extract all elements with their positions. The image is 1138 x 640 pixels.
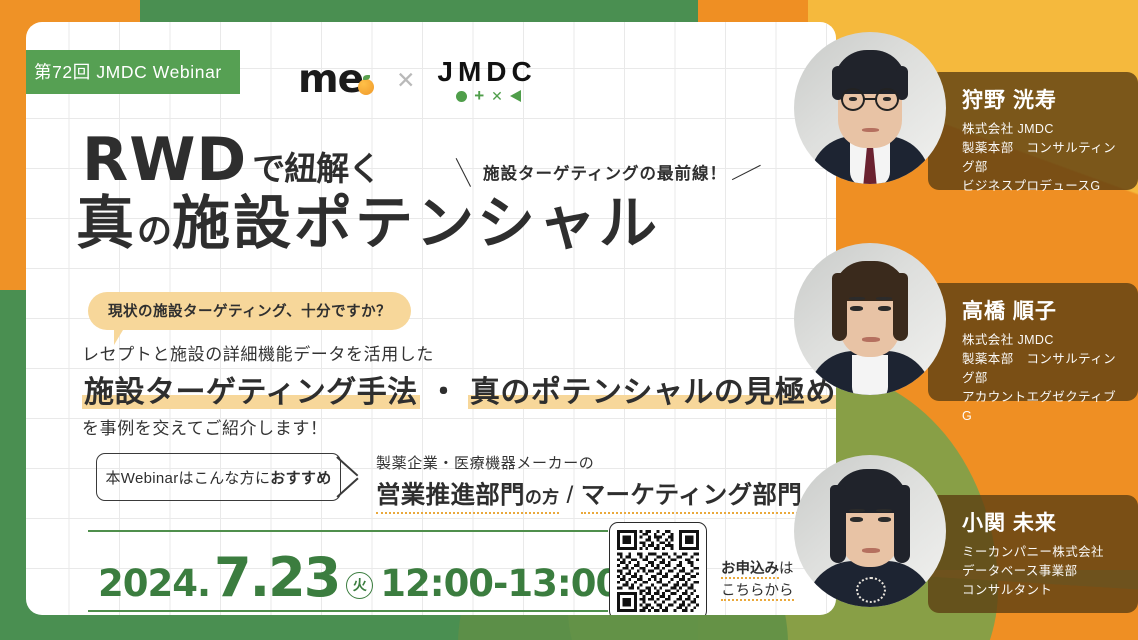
recommendation-separator: / [567, 482, 574, 509]
recommendation-box-text: 本Webinarはこんな方におすすめ [106, 467, 332, 488]
headline-rwd: RWD [82, 130, 247, 190]
speaker-1-name: 狩野 洸寿 [962, 84, 1124, 114]
headline-line-2: 真の施設ポテンシャル [76, 194, 660, 255]
slash-left-icon: ＼ [446, 151, 481, 193]
qr-label-line2-text: こちらから [721, 583, 794, 601]
speaker-3-group: コンサルタント [962, 581, 1124, 600]
eyebrow-tagline: ＼ 施設ターゲティングの最前線！ ／ [451, 154, 759, 190]
me-company-logo: me [298, 64, 374, 95]
speaker-3-org: ミーカンパニー株式会社 [962, 543, 1124, 562]
multiply-icon: ✕ [396, 67, 415, 94]
slash-right-icon: ／ [729, 151, 764, 193]
speaker-1-dept: 製薬本部 コンサルティング部 [962, 139, 1124, 177]
headline-line-1: RWD で紐解く [82, 130, 380, 190]
divider-top [88, 530, 608, 532]
lead-line-2: 施設ターゲティング手法 ・ 真のポテンシャルの見極め方 [82, 367, 836, 411]
speaker-3-photo [794, 455, 946, 607]
recommendation-target-b-text: マーケティング部門 [581, 482, 802, 509]
main-content-card: 第72回 JMDC Webinar me ✕ JMDC + ✕ RWD [26, 22, 836, 615]
qr-code-icon [617, 530, 699, 612]
recommendation-box-bold: おすすめ [270, 470, 331, 487]
recommendation-sub-text: 製薬企業・医療機器メーカーの [376, 452, 594, 473]
lead-highlight-a: 施設ターゲティング手法 [82, 376, 420, 409]
bubble-text: 現状の施設ターゲティング、十分ですか？ [108, 304, 391, 320]
recommendation-target-a-suffix: の方 [525, 488, 560, 507]
event-year: 2024. [98, 562, 210, 605]
speaker-2-group: アカウントエグゼクティブG [962, 388, 1124, 426]
qr-code-box[interactable] [609, 522, 707, 615]
lead-highlight-b: 真のポテンシャルの見極め方 [468, 376, 836, 409]
question-speech-bubble: 現状の施設ターゲティング、十分ですか？ [88, 292, 411, 330]
divider-bottom [88, 610, 608, 612]
speaker-1-org: 株式会社 JMDC [962, 120, 1124, 139]
speaker-2-org: 株式会社 JMDC [962, 331, 1124, 350]
webinar-number-ribbon: 第72回 JMDC Webinar [26, 50, 240, 94]
arrow-right-icon [337, 453, 363, 501]
event-datetime: 2024. 7.23 火 12:00-13:00 [98, 546, 620, 609]
speaker-1-info: 狩野 洸寿 株式会社 JMDC 製薬本部 コンサルティング部 ビジネスプロデュー… [928, 72, 1138, 190]
eyebrow-text: 施設ターゲティングの最前線！ [483, 160, 727, 184]
me-logo-text: me [298, 64, 363, 95]
speaker-2-dept: 製薬本部 コンサルティング部 [962, 350, 1124, 388]
jmdc-logo-marks: + ✕ [456, 90, 521, 102]
speaker-3-dept: データベース事業部 [962, 562, 1124, 581]
logo-lockup: me ✕ JMDC + ✕ [298, 58, 537, 102]
cross-icon: ✕ [491, 92, 503, 100]
lead-line-3: を事例を交えてご紹介します！ [82, 414, 328, 439]
headline-line2-b: 施設ポテンシャル [172, 191, 660, 256]
event-month-day: 7.23 [214, 546, 339, 609]
speaker-1-group: ビジネスプロデュースG [962, 177, 1124, 196]
orange-fruit-icon [358, 79, 374, 95]
headline-line2-no: の [137, 212, 172, 251]
speaker-2-info: 高橋 順子 株式会社 JMDC 製薬本部 コンサルティング部 アカウントエグゼク… [928, 283, 1138, 401]
speaker-3-name: 小関 未来 [962, 507, 1124, 537]
lead-line-1: レセプトと施設の詳細機能データを活用した [82, 340, 434, 365]
headline-line1-jp: で紐解く [252, 142, 380, 190]
speaker-2-name: 高橋 順子 [962, 295, 1124, 325]
recommendation-target-a-text: 営業推進部門 [376, 482, 525, 509]
recommendation-main-text: 営業推進部門の方 / マーケティング部門の方 [376, 476, 836, 511]
speaker-2-photo [794, 243, 946, 395]
headline-line2-a: 真 [76, 191, 137, 256]
qr-label-rest: は [779, 561, 794, 577]
qr-label-line-2: こちらから [721, 580, 794, 602]
recommendation-target-a: 営業推進部門の方 [376, 482, 559, 514]
recommendation-label-box: 本Webinarはこんな方におすすめ [96, 453, 341, 501]
event-day-of-week: 火 [346, 572, 373, 599]
speaker-3-info: 小関 未来 ミーカンパニー株式会社 データベース事業部 コンサルタント [928, 495, 1138, 613]
qr-label-bold: お申込み [721, 561, 779, 579]
jmdc-logo-text: JMDC [437, 58, 536, 86]
qr-code-label: お申込みは こちらから [721, 558, 794, 603]
triangle-icon [510, 90, 521, 102]
event-time: 12:00-13:00 [380, 562, 620, 605]
lead-separator: ・ [429, 376, 460, 409]
jmdc-logo: JMDC + ✕ [437, 58, 536, 102]
recommendation-box-normal: 本Webinarはこんな方に [106, 470, 271, 487]
circle-icon [456, 91, 467, 102]
ribbon-label: 第72回 JMDC Webinar [26, 50, 240, 94]
speaker-1-photo [794, 32, 946, 184]
qr-label-line-1: お申込みは [721, 558, 794, 580]
plus-icon: + [474, 91, 484, 101]
